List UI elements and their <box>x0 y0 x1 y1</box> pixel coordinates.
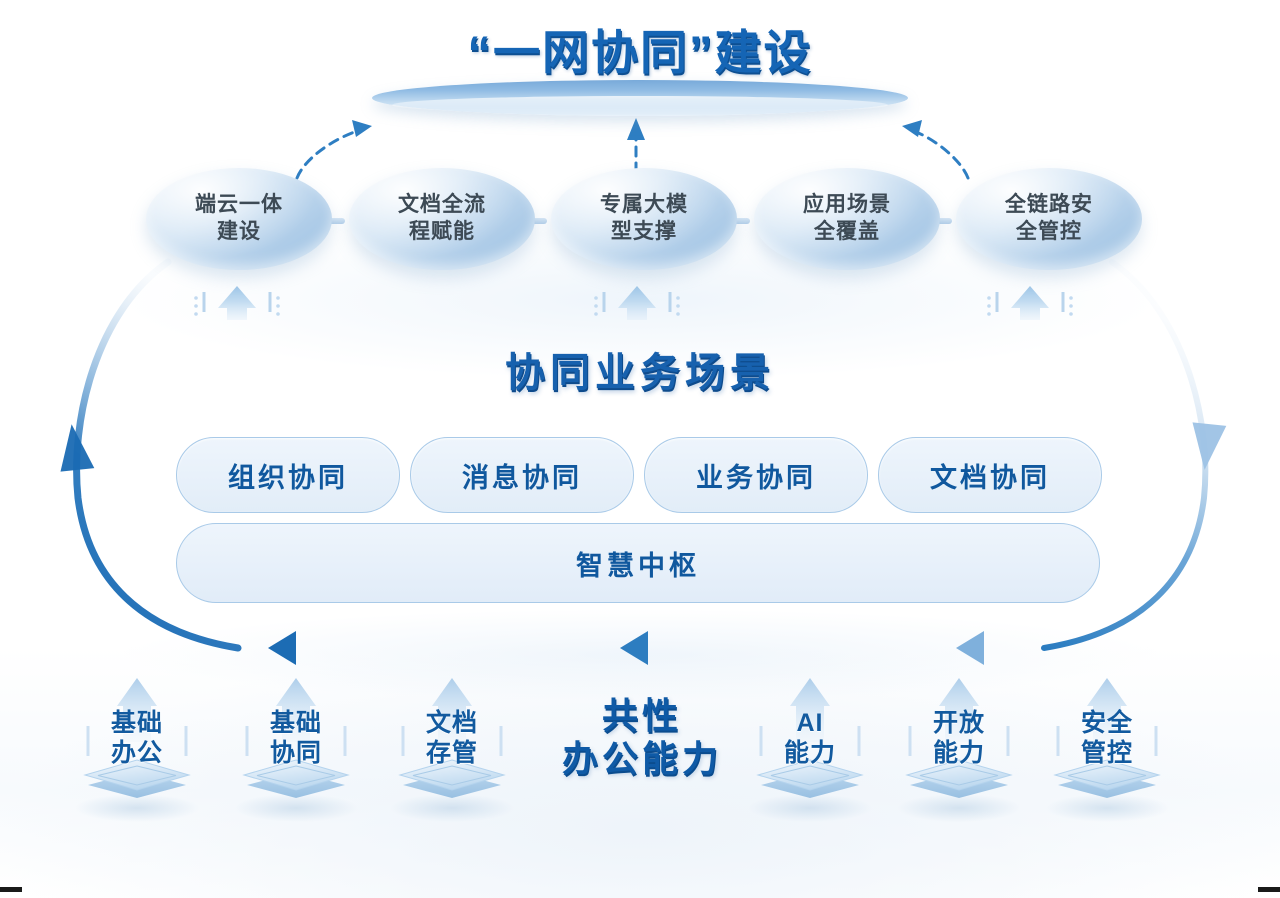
section-title: 协同业务场景 <box>0 340 1280 398</box>
capability-label: AI 能力 <box>735 708 885 768</box>
capability-label: 基础 协同 <box>221 708 371 768</box>
capability-label: 文档 存管 <box>377 708 527 768</box>
collab-scenario-pill-row: 组织协同 消息协同 业务协同 文档协同 <box>176 437 1102 513</box>
intelligent-hub-bar[interactable]: 智慧中枢 <box>176 523 1100 603</box>
crop-mark-bottom-left <box>0 887 22 892</box>
diagram-canvas: “一网协同”建设 端云一体 建设 文档全流 程赋能 专属大模 型支撑 应用场景 … <box>0 0 1280 898</box>
flow-arrowhead-1 <box>268 631 296 665</box>
pill-label: 组织协同 <box>228 456 348 495</box>
common-capability-row: 基础 办公 基础 协同 文档 存管 共性 办公能力 AI 能力 开放 能力 安全… <box>62 676 1222 826</box>
top-node-changjing[interactable]: 应用场景 全覆盖 <box>754 168 940 270</box>
top-node-label: 应用场景 全覆盖 <box>803 192 891 246</box>
top-node-duanyun[interactable]: 端云一体 建设 <box>146 168 332 270</box>
capability-wendang-cunguan[interactable]: 文档 存管 <box>377 708 527 768</box>
capability-label: 开放 能力 <box>884 708 1034 768</box>
left-arc-arrowhead <box>56 422 95 471</box>
title-text: “一网协同”建设 <box>0 28 1280 77</box>
top-node-label: 端云一体 建设 <box>195 192 283 246</box>
crop-mark-bottom-right <box>1258 887 1280 892</box>
right-arc-arrowhead <box>1188 422 1227 471</box>
pill-label: 业务协同 <box>696 456 816 495</box>
intelligent-hub-label: 智慧中枢 <box>576 544 700 583</box>
capability-label: 安全 管控 <box>1032 708 1182 768</box>
capability-jichu-xietong[interactable]: 基础 协同 <box>221 708 371 768</box>
dashed-arrow-center <box>627 118 645 172</box>
capability-kaifang[interactable]: 开放 能力 <box>884 708 1034 768</box>
capability-ai[interactable]: AI 能力 <box>735 708 885 768</box>
up-arrow-motif-1 <box>194 286 280 320</box>
top-node-wendang[interactable]: 文档全流 程赋能 <box>349 168 535 270</box>
pill-wendang[interactable]: 文档协同 <box>878 437 1102 513</box>
top-node-damoxing[interactable]: 专属大模 型支撑 <box>551 168 737 270</box>
capability-group-title: 共性 办公能力 <box>522 694 762 780</box>
flow-arrowhead-3 <box>956 631 984 665</box>
pill-label: 文档协同 <box>930 456 1050 495</box>
pill-yewu[interactable]: 业务协同 <box>644 437 868 513</box>
top-node-label: 专属大模 型支撑 <box>600 192 688 246</box>
capability-group-label: 共性 办公能力 <box>522 694 762 780</box>
title-platform-highlight <box>392 96 888 114</box>
diagram-title: “一网协同”建设 <box>0 28 1280 77</box>
pill-zuzhi[interactable]: 组织协同 <box>176 437 400 513</box>
top-node-label: 全链路安 全管控 <box>1005 192 1093 246</box>
up-arrow-motif-3 <box>987 286 1073 320</box>
pill-label: 消息协同 <box>462 456 582 495</box>
bottom-flow-line <box>238 631 1046 665</box>
top-node-label: 文档全流 程赋能 <box>398 192 486 246</box>
capability-jichu-bangong[interactable]: 基础 办公 <box>62 708 212 768</box>
capability-anquan-guankong[interactable]: 安全 管控 <box>1032 708 1182 768</box>
top-node-row: 端云一体 建设 文档全流 程赋能 专属大模 型支撑 应用场景 全覆盖 全链路安 … <box>140 168 1140 274</box>
up-arrow-motif-2 <box>594 286 680 320</box>
flow-arrowhead-2 <box>620 631 648 665</box>
top-node-anquan[interactable]: 全链路安 全管控 <box>956 168 1142 270</box>
pill-xiaoxi[interactable]: 消息协同 <box>410 437 634 513</box>
capability-label: 基础 办公 <box>62 708 212 768</box>
